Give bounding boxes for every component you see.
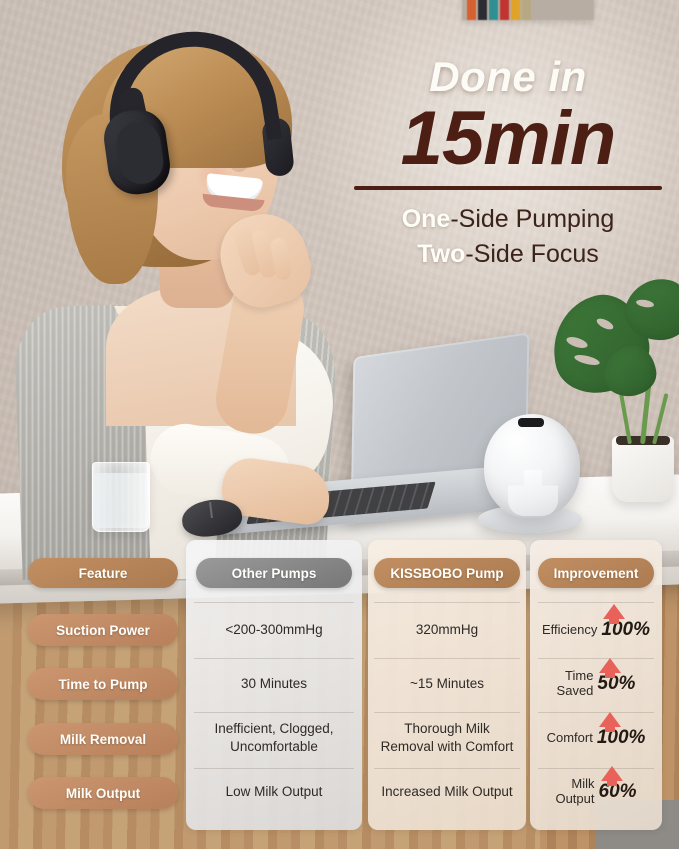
- table-cell-improvement-time-saved: Time Saved 50%: [534, 662, 658, 706]
- row-divider: [374, 658, 520, 659]
- table-row-label-suction-power: Suction Power: [28, 614, 178, 646]
- table-cell-kissbobo-suction: 320mmHg: [372, 610, 522, 650]
- headline-rule: [354, 186, 662, 190]
- row-divider: [374, 602, 520, 603]
- row-divider: [194, 712, 354, 713]
- table-cell-other-output: Low Milk Output: [192, 772, 356, 812]
- improvement-value-time-saved: 50%: [597, 673, 635, 695]
- table-header-kissbobo: KISSBOBO Pump: [374, 558, 520, 588]
- book-spine: [467, 0, 476, 20]
- up-arrow-stem: [605, 670, 615, 678]
- row-divider: [374, 768, 520, 769]
- table-cell-other-removal: Inefficient, Clogged, Uncomfortable: [192, 716, 356, 760]
- improvement-label-comfort: Comfort: [547, 731, 593, 746]
- table-cell-kissbobo-output: Increased Milk Output: [372, 772, 522, 812]
- improvement-value-efficiency: 100%: [601, 619, 650, 641]
- water: [93, 473, 149, 528]
- headline-sub-2-emphasis: Two: [417, 240, 465, 268]
- table-cell-other-time: 30 Minutes: [192, 664, 356, 704]
- comparison-table: Feature Other Pumps KISSBOBO Pump Improv…: [18, 540, 662, 832]
- table-row-label-milk-removal: Milk Removal: [28, 723, 178, 755]
- up-arrow-stem: [609, 616, 619, 624]
- headline-block: Done in 15min One-Side Pumping Two-Side …: [352, 56, 664, 273]
- improvement-value-comfort: 100%: [597, 727, 646, 749]
- improvement-value-milk-output: 60%: [599, 781, 637, 803]
- up-arrow-stem: [605, 724, 615, 732]
- table-cell-other-suction: <200-300mmHg: [192, 610, 356, 650]
- up-arrow-stem: [607, 778, 617, 786]
- improvement-label-time-saved: Time Saved: [557, 669, 594, 699]
- table-cell-improvement-efficiency: Efficiency 100%: [534, 608, 658, 652]
- headline-sub-1-rest: -Side Pumping: [450, 205, 614, 233]
- headline-sub-1-emphasis: One: [402, 205, 451, 233]
- row-divider: [374, 712, 520, 713]
- improvement-label-efficiency: Efficiency: [542, 623, 597, 638]
- row-divider: [538, 602, 654, 603]
- improvement-percent: 50%: [597, 673, 635, 694]
- row-divider: [538, 768, 654, 769]
- row-divider: [538, 712, 654, 713]
- headline-sub-1: One-Side Pumping: [352, 202, 664, 238]
- improvement-label-milk-output: Milk Output: [555, 777, 594, 807]
- table-cell-improvement-milk-output: Milk Output 60%: [534, 770, 658, 814]
- pump-display-icon: [518, 418, 544, 427]
- bookshelf: [462, 0, 594, 20]
- book-spine: [522, 0, 531, 20]
- table-row-label-milk-output: Milk Output: [28, 777, 178, 809]
- headline-duration: 15min: [352, 100, 664, 178]
- table-header-improvement: Improvement: [538, 558, 654, 588]
- plant-pot: [612, 436, 674, 502]
- table-header-feature: Feature: [28, 558, 178, 588]
- book-spine: [511, 0, 520, 20]
- row-divider: [194, 602, 354, 603]
- row-divider: [538, 658, 654, 659]
- headline-sub-2: Two-Side Focus: [352, 237, 664, 273]
- book-spine: [500, 0, 509, 20]
- table-cell-kissbobo-time: ~15 Minutes: [372, 664, 522, 704]
- table-cell-improvement-comfort: Comfort 100%: [534, 716, 658, 760]
- book-spine: [478, 0, 487, 20]
- book-spine: [489, 0, 498, 20]
- headline-sub-2-rest: -Side Focus: [465, 240, 598, 268]
- improvement-percent: 60%: [599, 781, 637, 802]
- glass-of-water: [92, 462, 150, 532]
- headline-done-in: Done in: [352, 56, 664, 98]
- table-header-other-pumps: Other Pumps: [196, 558, 352, 588]
- table-row-label-time-to-pump: Time to Pump: [28, 668, 178, 700]
- row-divider: [194, 768, 354, 769]
- row-divider: [194, 658, 354, 659]
- table-cell-kissbobo-removal: Thorough Milk Removal with Comfort: [372, 716, 522, 760]
